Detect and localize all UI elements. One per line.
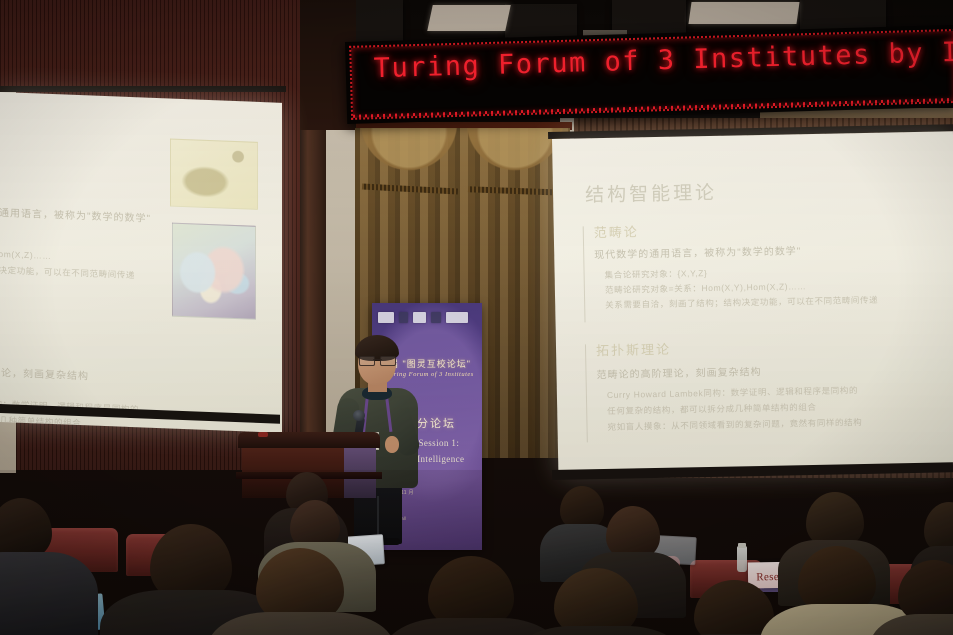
audience-head: [554, 568, 638, 635]
slide-section-item-1b: 范畴论研究对象=关系：Hom(X,Y),Hom(X,Z)……: [605, 280, 807, 296]
slide-lead-2: 范畴论的高阶理论，刻画复杂结构: [0, 361, 89, 382]
slide-section-item-1a: 集合论研究对象：{X,Y,Z}: [605, 267, 708, 281]
sponsor-logo-icon: [446, 312, 468, 323]
slide-section-lead-2: 范畴论的高阶理论，刻画复杂结构: [596, 363, 761, 381]
slide-item-1c: 关系需要自洽，刻画了结构；结构决定功能，可以在不同范畴间传递: [0, 259, 135, 281]
audience-body: [514, 626, 684, 635]
slide-section-heading-2: 拓扑斯理论: [596, 339, 671, 359]
sponsor-logo-icon: [399, 312, 408, 323]
sponsor-logo-icon: [431, 312, 441, 323]
water-bottle: [737, 546, 747, 572]
projection-screen-left: 现代数学的通用语言，被称为"数学的数学" 范畴论研究对象=关系：Hom(X,Y)…: [0, 92, 282, 433]
slide-image-elephant-sketch: [170, 139, 258, 210]
led-banner-text: Turing Forum of 3 Institutes by IIIS,: [373, 35, 953, 84]
slide-image-blind-men-elephant: [172, 223, 256, 320]
wall-column: [300, 95, 326, 475]
projection-screen-right: 结构智能理论 范畴论 现代数学的通用语言，被称为"数学的数学" 集合论研究对象：…: [552, 131, 953, 477]
audience-member: [884, 560, 953, 635]
slide-section-lead-1: 现代数学的通用语言，被称为"数学的数学": [594, 242, 801, 261]
ceiling-panel: [800, 0, 886, 30]
slide-right: 结构智能理论 范畴论 现代数学的通用语言，被称为"数学的数学" 集合论研究对象：…: [552, 131, 953, 477]
audience-body: [0, 552, 98, 635]
slide-item-1b: 范畴论研究对象=关系：Hom(X,Y),Hom(X,Z)……: [0, 242, 51, 262]
audience-member: [530, 568, 666, 635]
slide-section-heading-1: 范畴论: [594, 221, 639, 241]
led-banner: Turing Forum of 3 Institutes by IIIS,: [345, 25, 953, 124]
sponsor-logos: [378, 311, 476, 324]
slide-section-item-2b: 任何复杂的结构，都可以拆分成几种简单结构的组合: [607, 401, 817, 417]
slide-title: 结构智能理论: [585, 178, 718, 208]
screen-bezel-left-top: [0, 86, 286, 92]
bottle-cap: [738, 543, 746, 548]
audience-member: [0, 498, 84, 635]
slide-left: 现代数学的通用语言，被称为"数学的数学" 范畴论研究对象=关系：Hom(X,Y)…: [0, 92, 282, 433]
audience-member: [402, 556, 542, 635]
slide-section-item-2a: Curry Howard Lambek同构：数学证明、逻辑和程序是同构的: [607, 384, 858, 401]
slide-section-bar: [585, 344, 588, 442]
slide-section-item-2c: 宛如盲人摸象：从不同领域看到的复杂问题，竟然有同样的结构: [607, 416, 862, 433]
microphone-head-icon: [353, 410, 365, 421]
audience-head: [0, 498, 52, 560]
ceiling-light: [688, 2, 799, 24]
audience-member: [228, 548, 374, 635]
lectern-indicator: [258, 432, 268, 437]
slide-section-item-1c: 关系需要自洽，刻画了结构；结构决定功能，可以在不同范畴间传递: [605, 294, 878, 311]
speaker-hand-right: [385, 436, 399, 453]
slide-lead-1: 现代数学的通用语言，被称为"数学的数学": [0, 202, 151, 225]
slide-section-bar: [583, 226, 586, 322]
sponsor-logo-icon: [378, 312, 394, 323]
audience-body: [208, 612, 394, 635]
sponsor-logo-icon: [413, 312, 426, 323]
glasses-icon: [359, 356, 396, 364]
conference-hall-photo: Turing Forum of 3 Institutes by IIIS, 现代…: [0, 0, 953, 635]
audience-head: [694, 580, 774, 635]
ceiling-light: [427, 5, 511, 31]
